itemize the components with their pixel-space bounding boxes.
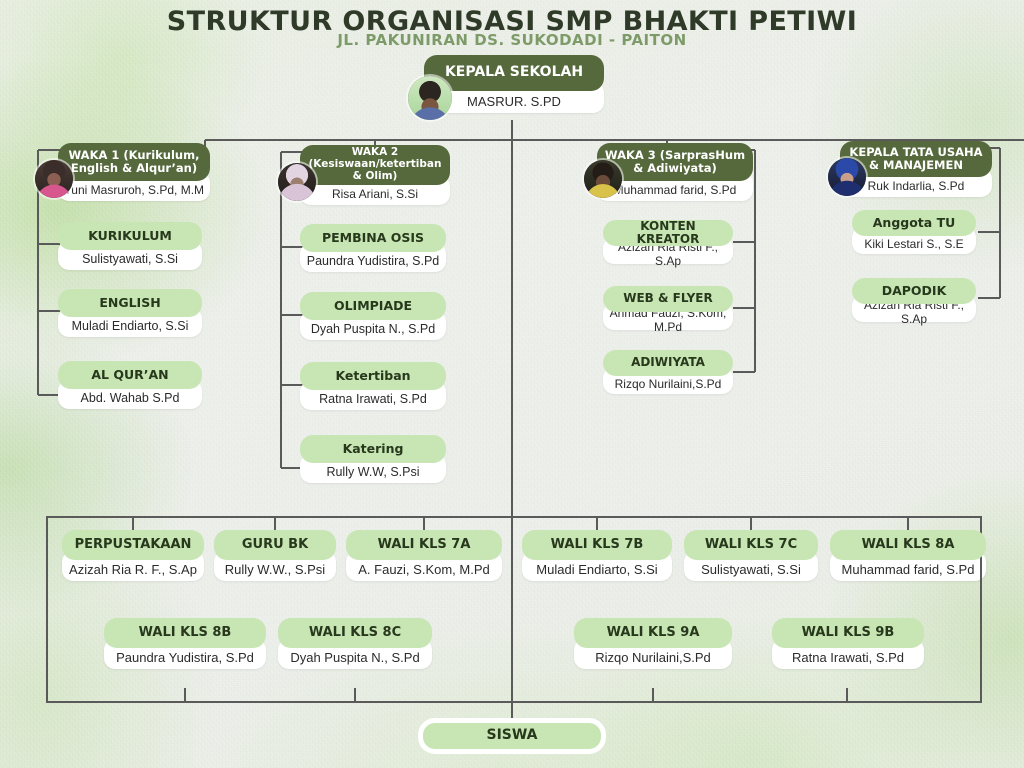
node-pembina-osis[interactable]: PEMBINA OSIS Paundra Yudistira, S.Pd: [300, 224, 446, 272]
node-english[interactable]: ENGLISH Muladi Endiarto, S.Si: [58, 289, 202, 337]
node-role-label: WALI KLS 8B: [104, 618, 266, 648]
node-anggota-tu[interactable]: Anggota TU Kiki Lestari S., S.E: [852, 210, 976, 254]
node-role-label: PEMBINA OSIS: [300, 224, 446, 252]
node-role-label: KONTEN KREATOR: [603, 220, 733, 246]
page-subtitle: JL. PAKUNIRAN DS. SUKODADI - PAITON: [0, 31, 1024, 49]
avatar-waka2: [278, 163, 316, 201]
node-role-label: AL QUR’AN: [58, 361, 202, 389]
node-ketertiban[interactable]: Ketertiban Ratna Irawati, S.Pd: [300, 362, 446, 410]
node-role-label: WALI KLS 8A: [830, 530, 986, 560]
avatar-waka1: [35, 160, 73, 198]
node-dapodik[interactable]: DAPODIK Azizah Ria Risti F., S.Ap: [852, 278, 976, 322]
node-role-label: WAKA 2 (Kesiswaan/ketertiban & Olim): [300, 145, 450, 185]
node-role-label: WALI KLS 7C: [684, 530, 818, 560]
node-waka1[interactable]: WAKA 1 (Kurikulum, English & Alqur’an) Y…: [58, 143, 210, 201]
node-role-label: Ketertiban: [300, 362, 446, 390]
node-role-label: WALI KLS 8C: [278, 618, 432, 648]
node-role-label: DAPODIK: [852, 278, 976, 304]
node-role-label: WEB & FLYER: [603, 286, 733, 312]
node-web-flyer[interactable]: WEB & FLYER Ahmad Fauzi, S.Kom, M.Pd: [603, 286, 733, 330]
node-role-label: KURIKULUM: [58, 222, 202, 250]
node-adiwiyata[interactable]: ADIWIYATA Rizqo Nurilaini,S.Pd: [603, 350, 733, 394]
node-role-label: WALI KLS 9B: [772, 618, 924, 648]
node-role-label: WALI KLS 7A: [346, 530, 502, 560]
avatar-kepala-sekolah: [408, 76, 452, 120]
node-role-label: WAKA 1 (Kurikulum, English & Alqur’an): [58, 143, 210, 181]
avatar-kepala-tata-usaha: [828, 158, 866, 196]
node-konten-kreator[interactable]: KONTEN KREATOR Azizah Ria Risti F., S.Ap: [603, 220, 733, 264]
node-role-label: OLIMPIADE: [300, 292, 446, 320]
node-role-label: Anggota TU: [852, 210, 976, 236]
node-role-label: PERPUSTAKAAN: [62, 530, 204, 560]
node-role-label: SISWA: [418, 718, 606, 754]
node-role-label: GURU BK: [214, 530, 336, 560]
node-olimpiade[interactable]: OLIMPIADE Dyah Puspita N., S.Pd: [300, 292, 446, 340]
node-role-label: WALI KLS 7B: [522, 530, 672, 560]
node-waka2[interactable]: WAKA 2 (Kesiswaan/ketertiban & Olim) Ris…: [300, 145, 450, 205]
avatar-waka3: [584, 160, 622, 198]
node-kurikulum[interactable]: KURIKULUM Sulistyawati, S.Si: [58, 222, 202, 270]
node-katering[interactable]: Katering Rully W.W, S.Psi: [300, 435, 446, 483]
node-role-label: WALI KLS 9A: [574, 618, 732, 648]
node-al-quran[interactable]: AL QUR’AN Abd. Wahab S.Pd: [58, 361, 202, 409]
node-role-label: ENGLISH: [58, 289, 202, 317]
node-role-label: Katering: [300, 435, 446, 463]
node-role-label: ADIWIYATA: [603, 350, 733, 376]
node-siswa[interactable]: SISWA: [418, 718, 606, 754]
